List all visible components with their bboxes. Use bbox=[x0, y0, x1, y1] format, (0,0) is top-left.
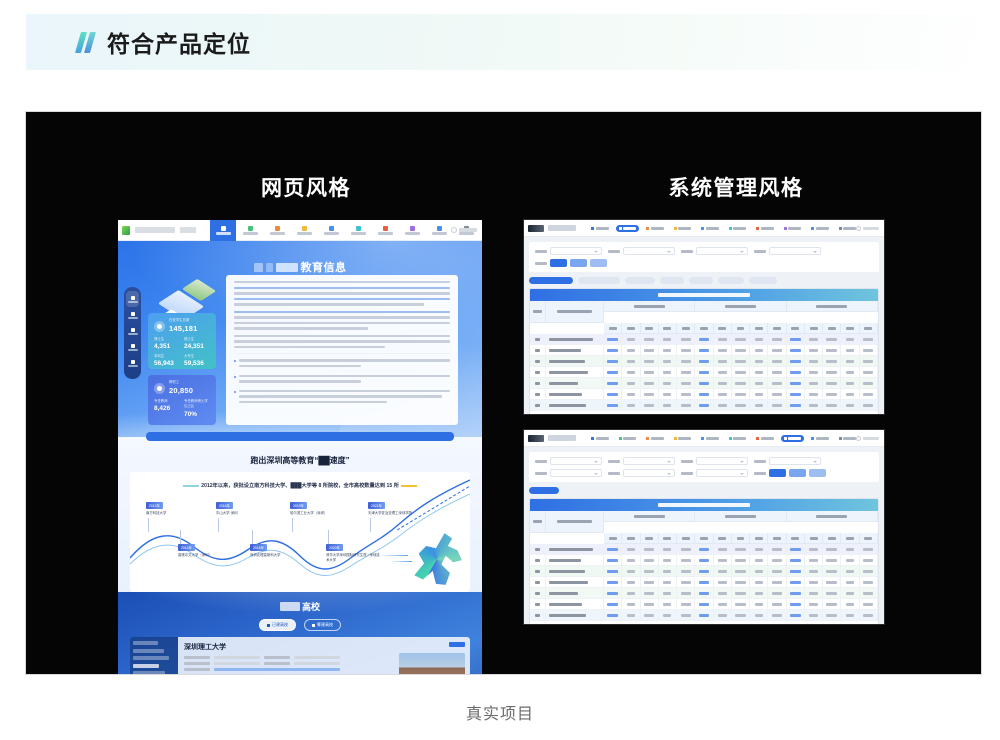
table-row[interactable] bbox=[530, 389, 878, 400]
admin-subtab-6[interactable] bbox=[749, 277, 777, 284]
cell-value bbox=[714, 334, 732, 345]
filter-button-重置[interactable] bbox=[789, 469, 806, 477]
article-bullet-2 bbox=[234, 390, 450, 407]
table-row[interactable] bbox=[530, 555, 878, 566]
filter-select[interactable] bbox=[696, 457, 748, 465]
cell-value bbox=[768, 334, 786, 345]
timeline-stem-1 bbox=[180, 530, 181, 544]
cell-value bbox=[823, 334, 841, 345]
web-nav-item-8[interactable] bbox=[426, 220, 452, 241]
cell-value bbox=[823, 588, 841, 599]
web-nav-label bbox=[378, 232, 393, 235]
filter-field-3[interactable] bbox=[754, 457, 821, 465]
th-col-0-0 bbox=[604, 533, 622, 544]
th-col-0-3 bbox=[659, 533, 677, 544]
cell-value bbox=[641, 367, 659, 378]
web-nav[interactable] bbox=[210, 220, 479, 241]
cell-value bbox=[659, 599, 677, 610]
cell-name bbox=[546, 378, 604, 389]
web-nav-label bbox=[432, 232, 447, 235]
admin-subtab-3[interactable] bbox=[660, 277, 684, 284]
student-icon bbox=[619, 227, 622, 230]
cell-value bbox=[604, 555, 622, 566]
filter-field-3[interactable] bbox=[754, 247, 821, 255]
home-icon bbox=[591, 437, 594, 440]
admin-subtabs[interactable] bbox=[529, 277, 879, 284]
admin-nav-tab-7[interactable] bbox=[781, 435, 805, 442]
cell-value bbox=[677, 555, 695, 566]
filter-label bbox=[535, 460, 547, 463]
web-nav-item-5[interactable] bbox=[345, 220, 371, 241]
stat-value: 145,181 bbox=[169, 323, 198, 334]
cell-index bbox=[530, 389, 546, 400]
th-col-1-2 bbox=[732, 533, 750, 544]
cell-value bbox=[714, 389, 732, 400]
admin-nav-tab-5[interactable] bbox=[726, 225, 750, 232]
intro-article bbox=[226, 275, 458, 425]
cell-value bbox=[641, 400, 659, 411]
th-index bbox=[530, 511, 546, 533]
table-row[interactable] bbox=[530, 378, 878, 389]
admin-nav-tab-3[interactable] bbox=[671, 435, 695, 442]
web-style-mockup[interactable]: 教育信息 在校学生总数 145,181 博士生4,351硕士生24,351本科生… bbox=[118, 220, 482, 674]
timeline-year-1: 2014年 bbox=[178, 544, 195, 551]
cell-value bbox=[805, 334, 823, 345]
table-row[interactable] bbox=[530, 610, 878, 621]
admin-subtab-2[interactable] bbox=[625, 277, 655, 284]
detail-badge[interactable] bbox=[449, 642, 465, 647]
article-bullet-1 bbox=[234, 375, 450, 386]
filter-field-4[interactable] bbox=[535, 469, 602, 477]
floating-side-menu[interactable] bbox=[124, 287, 141, 379]
cell-value bbox=[823, 544, 841, 555]
table-row[interactable] bbox=[530, 356, 878, 367]
cell-value bbox=[787, 610, 805, 621]
admin-nav-tabs[interactable] bbox=[588, 225, 859, 232]
cell-value bbox=[604, 378, 622, 389]
side-menu-item-2[interactable] bbox=[126, 323, 139, 339]
table-row[interactable] bbox=[530, 367, 878, 378]
filter-field-2[interactable] bbox=[681, 457, 748, 465]
filter-button-导出[interactable] bbox=[809, 469, 826, 477]
cell-value bbox=[841, 378, 859, 389]
user-menu[interactable] bbox=[451, 227, 477, 233]
cell-value bbox=[641, 555, 659, 566]
admin-panel-bottom[interactable] bbox=[524, 430, 884, 624]
web-nav-item-0[interactable] bbox=[210, 220, 236, 241]
cell-value bbox=[695, 577, 713, 588]
table-pagination[interactable] bbox=[530, 411, 878, 414]
filter-field-1[interactable] bbox=[608, 247, 675, 255]
cell-value bbox=[677, 566, 695, 577]
table-pagination[interactable] bbox=[530, 621, 878, 624]
cell-value bbox=[695, 367, 713, 378]
web-nav-item-3[interactable] bbox=[291, 220, 317, 241]
cell-value bbox=[641, 356, 659, 367]
filter-label bbox=[681, 472, 693, 475]
university-tab-1[interactable]: 筹建高校 bbox=[304, 619, 341, 631]
th-col-1-1 bbox=[714, 323, 732, 334]
cell-value bbox=[604, 588, 622, 599]
filter-field-0[interactable] bbox=[535, 247, 602, 255]
timeline-school-2: 中山大学·深圳 bbox=[216, 510, 237, 515]
facility-icon bbox=[811, 437, 814, 440]
cell-value bbox=[768, 577, 786, 588]
admin-subtab-0[interactable] bbox=[529, 487, 559, 494]
home-icon bbox=[221, 226, 226, 231]
cell-value bbox=[860, 367, 878, 378]
admin-subtab-5[interactable] bbox=[718, 277, 744, 284]
cell-value bbox=[823, 378, 841, 389]
cell-value bbox=[787, 389, 805, 400]
admin-nav-tab-0[interactable] bbox=[588, 225, 612, 232]
speed-line bbox=[390, 561, 412, 562]
admin-nav-tab-6[interactable] bbox=[753, 435, 777, 442]
th-index bbox=[530, 301, 546, 323]
admin-user-menu[interactable] bbox=[856, 226, 879, 231]
admin-nav-tab-8[interactable] bbox=[808, 225, 832, 232]
cell-value bbox=[732, 334, 750, 345]
cell-value bbox=[823, 389, 841, 400]
cell-value bbox=[805, 378, 823, 389]
cell-value bbox=[714, 356, 732, 367]
avatar bbox=[856, 436, 861, 441]
filter-button-重置[interactable] bbox=[570, 259, 587, 267]
cell-value bbox=[604, 367, 622, 378]
cell-value bbox=[823, 599, 841, 610]
cell-value bbox=[641, 610, 659, 621]
cell-name bbox=[546, 599, 604, 610]
stat-item-value: 8,426 bbox=[154, 404, 180, 414]
table-row[interactable] bbox=[530, 400, 878, 411]
cell-value bbox=[768, 345, 786, 356]
cell-value bbox=[714, 555, 732, 566]
cell-index bbox=[530, 588, 546, 599]
side-menu-item-1[interactable] bbox=[126, 307, 139, 323]
filter-buttons[interactable] bbox=[535, 259, 607, 267]
admin-nav-tab-7[interactable] bbox=[781, 225, 805, 232]
admin-user-label bbox=[863, 437, 879, 440]
web-nav-label bbox=[216, 232, 231, 235]
cell-index bbox=[530, 577, 546, 588]
cell-index bbox=[530, 356, 546, 367]
university-list-item-3[interactable] bbox=[133, 664, 159, 668]
cell-value bbox=[677, 400, 695, 411]
timeline-stem-0 bbox=[148, 518, 149, 532]
cell-value bbox=[860, 378, 878, 389]
university-list-item-1[interactable] bbox=[133, 649, 164, 653]
web-topbar bbox=[118, 220, 482, 241]
side-menu-item-4[interactable] bbox=[126, 355, 139, 371]
money-icon bbox=[756, 437, 759, 440]
universities-tabs[interactable]: 已建高校筹建高校 bbox=[118, 619, 482, 631]
admin-user-menu[interactable] bbox=[856, 436, 879, 441]
cell-name bbox=[546, 389, 604, 400]
cell-value bbox=[750, 566, 768, 577]
table-row[interactable] bbox=[530, 577, 878, 588]
cell-value bbox=[695, 610, 713, 621]
table-row[interactable] bbox=[530, 588, 878, 599]
cell-value bbox=[841, 610, 859, 621]
cell-value bbox=[659, 345, 677, 356]
cell-value bbox=[860, 334, 878, 345]
timeline-stem-3 bbox=[252, 530, 253, 544]
university-tab-0[interactable]: 已建高校 bbox=[259, 619, 296, 631]
stage-title-admin-style: 系统管理风格 bbox=[526, 172, 946, 202]
cell-value bbox=[805, 610, 823, 621]
cell-value bbox=[732, 577, 750, 588]
university-list-item-2[interactable] bbox=[133, 656, 169, 660]
cell-value bbox=[787, 544, 805, 555]
filter-field-5[interactable] bbox=[608, 469, 675, 477]
table-row[interactable] bbox=[530, 566, 878, 577]
cell-value bbox=[768, 389, 786, 400]
cell-value bbox=[641, 345, 659, 356]
timeline-stem-4 bbox=[292, 518, 293, 532]
job-icon bbox=[784, 437, 787, 440]
cell-value bbox=[750, 577, 768, 588]
cell-value bbox=[805, 367, 823, 378]
filter-button-导出[interactable] bbox=[590, 259, 607, 267]
cell-value bbox=[750, 334, 768, 345]
cell-value bbox=[677, 588, 695, 599]
teacher-icon bbox=[154, 383, 165, 394]
cell-value bbox=[622, 610, 640, 621]
filter-select[interactable] bbox=[623, 469, 675, 477]
timeline-school-4: 哈尔滨工业大学（深圳） bbox=[290, 510, 327, 515]
th-col-2-2 bbox=[823, 323, 841, 334]
cell-value bbox=[768, 610, 786, 621]
timeline-title: 跑出深圳高等教育“██速度” bbox=[118, 455, 482, 466]
cell-value bbox=[695, 544, 713, 555]
cell-value bbox=[677, 367, 695, 378]
filter-label bbox=[608, 472, 620, 475]
hero-title-text: 教育信息 bbox=[301, 259, 347, 275]
admin-subtab-4[interactable] bbox=[689, 277, 713, 284]
cell-value bbox=[750, 610, 768, 621]
university-list-item-0[interactable] bbox=[133, 641, 158, 645]
admin-nav-tabs[interactable] bbox=[588, 435, 859, 442]
web-nav-item-6[interactable] bbox=[372, 220, 398, 241]
cell-value bbox=[750, 400, 768, 411]
cell-value bbox=[641, 544, 659, 555]
table-row[interactable] bbox=[530, 599, 878, 610]
filter-field-6[interactable] bbox=[681, 469, 748, 477]
filter-select[interactable] bbox=[769, 457, 821, 465]
cell-index bbox=[530, 367, 546, 378]
timeline-school-3: 深圳北理莫斯科大学 bbox=[250, 552, 281, 557]
filter-select[interactable] bbox=[623, 457, 675, 465]
side-menu-label bbox=[128, 349, 138, 351]
th-col-1-4 bbox=[768, 533, 786, 544]
admin-nav-tab-label bbox=[706, 437, 719, 440]
page-title: 符合产品定位 bbox=[107, 25, 251, 59]
th-col-0-2 bbox=[641, 533, 659, 544]
cell-index bbox=[530, 610, 546, 621]
cell-index bbox=[530, 544, 546, 555]
side-menu-item-3[interactable] bbox=[126, 339, 139, 355]
cell-value bbox=[677, 544, 695, 555]
cell-name bbox=[546, 566, 604, 577]
cell-value bbox=[787, 367, 805, 378]
cell-name bbox=[546, 367, 604, 378]
filter-field-2[interactable] bbox=[681, 247, 748, 255]
cell-value bbox=[604, 577, 622, 588]
web-nav-item-4[interactable] bbox=[318, 220, 344, 241]
cell-value bbox=[805, 566, 823, 577]
admin-nav-tab-1[interactable] bbox=[616, 435, 640, 442]
admin-nav-tab-0[interactable] bbox=[588, 435, 612, 442]
university-list[interactable] bbox=[130, 637, 178, 674]
table-row[interactable] bbox=[530, 345, 878, 356]
admin-filter-bar[interactable] bbox=[529, 452, 879, 482]
side-menu-label bbox=[128, 333, 138, 335]
cell-value bbox=[622, 400, 640, 411]
filter-select[interactable] bbox=[623, 247, 675, 255]
cell-value bbox=[714, 345, 732, 356]
table-row[interactable] bbox=[530, 544, 878, 555]
site-name-redacted bbox=[135, 227, 175, 233]
article-paragraph-2 bbox=[234, 335, 450, 349]
cell-name bbox=[546, 588, 604, 599]
timeline-year-5: 2020年 bbox=[326, 544, 343, 551]
filter-label bbox=[535, 472, 547, 475]
admin-nav-tab-2[interactable] bbox=[643, 435, 667, 442]
admin-panel-top[interactable] bbox=[524, 220, 884, 414]
stat-item-label: 专任教师博士学位占比 bbox=[184, 399, 210, 409]
hero-title: 教育信息 bbox=[118, 259, 482, 275]
admin-nav-tab-6[interactable] bbox=[753, 225, 777, 232]
th-name bbox=[546, 301, 604, 323]
cell-value bbox=[860, 555, 878, 566]
cell-value bbox=[714, 577, 732, 588]
book-icon bbox=[674, 227, 677, 230]
th-col-2-3 bbox=[841, 533, 859, 544]
stat-item-0: 博士生4,351 bbox=[154, 337, 180, 352]
cell-value bbox=[787, 400, 805, 411]
admin-nav-tab-5[interactable] bbox=[726, 435, 750, 442]
cell-value bbox=[622, 334, 640, 345]
filter-select[interactable] bbox=[696, 247, 748, 255]
admin-subtabs[interactable] bbox=[529, 487, 879, 494]
university-tab-label: 筹建高校 bbox=[317, 622, 333, 628]
admin-topnav bbox=[524, 430, 884, 447]
cell-index bbox=[530, 334, 546, 345]
filter-buttons[interactable] bbox=[754, 469, 826, 477]
admin-nav-tab-label bbox=[651, 437, 664, 440]
filter-button-查询[interactable] bbox=[769, 469, 786, 477]
cell-value bbox=[622, 555, 640, 566]
cell-value bbox=[659, 334, 677, 345]
cell-value bbox=[732, 378, 750, 389]
cell-value bbox=[604, 389, 622, 400]
cell-value bbox=[622, 367, 640, 378]
cell-value bbox=[750, 544, 768, 555]
stat-item-3: 大专生59,536 bbox=[184, 354, 210, 369]
cell-value bbox=[841, 599, 859, 610]
web-nav-item-2[interactable] bbox=[264, 220, 290, 241]
admin-nav-tab-8[interactable] bbox=[808, 435, 832, 442]
filter-select[interactable] bbox=[550, 247, 602, 255]
admin-nav-tab-1[interactable] bbox=[616, 225, 640, 232]
cell-name bbox=[546, 334, 604, 345]
timeline-title-text: 跑出深圳高等教育“██速度” bbox=[250, 455, 349, 466]
admin-nav-tab-4[interactable] bbox=[698, 225, 722, 232]
cell-value bbox=[622, 389, 640, 400]
cell-value bbox=[841, 345, 859, 356]
admin-subtab-0[interactable] bbox=[529, 277, 573, 284]
cell-value bbox=[659, 610, 677, 621]
cell-value bbox=[823, 367, 841, 378]
timeline-chart-card: 2012年以来，获批设立南方科技大学、███大学等 8 所院校，全市高校数量达到… bbox=[130, 472, 470, 592]
crane-icon bbox=[312, 624, 315, 627]
cell-value bbox=[622, 577, 640, 588]
th-col-1-1 bbox=[714, 533, 732, 544]
cell-value bbox=[677, 356, 695, 367]
filter-field-1[interactable] bbox=[608, 457, 675, 465]
admin-nav-tab-label bbox=[651, 227, 664, 230]
user-name-redacted bbox=[459, 228, 477, 232]
cell-value bbox=[677, 599, 695, 610]
cell-value bbox=[641, 378, 659, 389]
filter-field-0[interactable] bbox=[535, 457, 602, 465]
filter-select[interactable] bbox=[550, 457, 602, 465]
cell-value bbox=[732, 345, 750, 356]
web-nav-item-1[interactable] bbox=[237, 220, 263, 241]
cell-value bbox=[823, 555, 841, 566]
admin-nav-tab-label bbox=[843, 227, 856, 230]
cell-value bbox=[714, 599, 732, 610]
article-bullets bbox=[234, 353, 450, 406]
filter-button-查询[interactable] bbox=[550, 259, 567, 267]
site-subtitle-redacted bbox=[180, 227, 196, 233]
admin-nav-tab-2[interactable] bbox=[643, 225, 667, 232]
side-menu-item-0[interactable] bbox=[126, 291, 139, 307]
cell-value bbox=[714, 400, 732, 411]
admin-subtab-1[interactable] bbox=[578, 277, 620, 284]
cell-value bbox=[805, 400, 823, 411]
enroll-icon bbox=[383, 226, 388, 231]
web-nav-item-7[interactable] bbox=[399, 220, 425, 241]
admin-filter-bar[interactable] bbox=[529, 242, 879, 272]
admin-nav-tab-3[interactable] bbox=[671, 225, 695, 232]
filter-select[interactable] bbox=[696, 469, 748, 477]
admin-nav-tab-label bbox=[596, 437, 609, 440]
book-icon bbox=[674, 437, 677, 440]
avatar bbox=[451, 227, 457, 233]
campus-photo bbox=[399, 653, 465, 674]
admin-logo-icon bbox=[528, 435, 544, 442]
cell-value bbox=[750, 356, 768, 367]
avatar bbox=[856, 226, 861, 231]
university-list-item-4[interactable] bbox=[133, 671, 165, 674]
web-nav-label bbox=[297, 232, 312, 235]
table-row[interactable] bbox=[530, 334, 878, 345]
web-nav-label bbox=[405, 232, 420, 235]
th-name bbox=[546, 511, 604, 533]
cell-value bbox=[860, 400, 878, 411]
admin-nav-tab-4[interactable] bbox=[698, 435, 722, 442]
filter-select[interactable] bbox=[769, 247, 821, 255]
page-header-band: 符合产品定位 bbox=[26, 14, 1000, 70]
stat-card-students: 在校学生总数 145,181 博士生4,351硕士生24,351本科生56,94… bbox=[148, 313, 216, 369]
cell-value bbox=[695, 599, 713, 610]
cell-value bbox=[659, 544, 677, 555]
filter-select[interactable] bbox=[550, 469, 602, 477]
student-icon bbox=[154, 321, 165, 332]
cell-value bbox=[714, 610, 732, 621]
cell-value bbox=[622, 378, 640, 389]
